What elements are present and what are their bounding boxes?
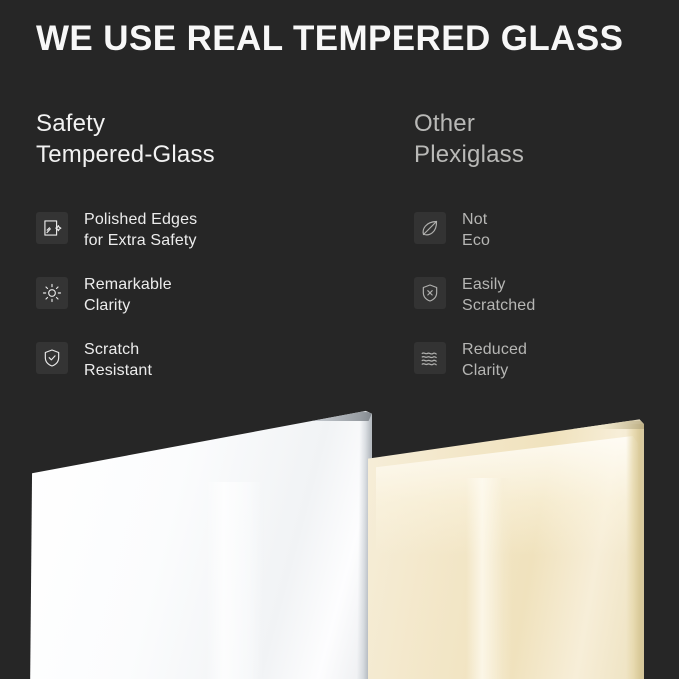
feature-label-line2: Clarity [462, 360, 527, 381]
feature-label: Polished Edges for Extra Safety [84, 208, 197, 251]
glass-reflection-highlight [206, 482, 264, 679]
feature-label-line1: Not [462, 209, 490, 230]
feature-item: Not Eco [414, 208, 674, 251]
feature-item: Polished Edges for Extra Safety [36, 208, 386, 251]
feature-list-tempered-glass: Polished Edges for Extra Safety Remarkab… [36, 208, 386, 381]
shield-check-icon [36, 342, 68, 374]
comparison-infographic: WE USE REAL TEMPERED GLASS Safety Temper… [0, 0, 679, 679]
feature-label: Remarkable Clarity [84, 273, 172, 316]
feature-label: Not Eco [462, 208, 490, 251]
plexiglass-right-edge [626, 424, 644, 679]
feature-label-line2: Clarity [84, 295, 172, 316]
plexiglass-top-edge [368, 420, 644, 429]
feature-item: Reduced Clarity [414, 338, 674, 381]
feature-label-line1: Remarkable [84, 274, 172, 295]
feature-label-line1: Polished Edges [84, 209, 197, 230]
column-plexiglass: Other Plexiglass Not Eco [414, 108, 674, 403]
column-title-plexiglass: Other Plexiglass [414, 108, 674, 170]
feature-label-line1: Easily [462, 274, 535, 295]
column-title-line1: Safety [36, 108, 386, 139]
feature-item: Easily Scratched [414, 273, 674, 316]
polished-edges-icon [36, 212, 68, 244]
plexiglass-reflection-highlight [466, 478, 512, 679]
column-tempered-glass: Safety Tempered-Glass Polished Edges for… [36, 108, 386, 403]
column-title-line2: Tempered-Glass [36, 139, 386, 170]
column-title-line2: Plexiglass [414, 139, 674, 170]
brightness-sun-icon [36, 277, 68, 309]
feature-label: Scratch Resistant [84, 338, 152, 381]
feature-label-line2: Scratched [462, 295, 535, 316]
tempered-glass-panel [30, 408, 372, 679]
feature-label: Reduced Clarity [462, 338, 527, 381]
feature-label-line2: for Extra Safety [84, 230, 197, 251]
leaf-crossed-out-icon [414, 212, 446, 244]
feature-list-plexiglass: Not Eco Easily Scratched [414, 208, 674, 381]
feature-label-line2: Resistant [84, 360, 152, 381]
shield-x-icon [414, 277, 446, 309]
feature-label: Easily Scratched [462, 273, 535, 316]
feature-label-line2: Eco [462, 230, 490, 251]
glass-top-edge [32, 411, 372, 421]
feature-item: Remarkable Clarity [36, 273, 386, 316]
feature-label-line1: Scratch [84, 339, 152, 360]
column-title-tempered-glass: Safety Tempered-Glass [36, 108, 386, 170]
column-title-line1: Other [414, 108, 674, 139]
feature-item: Scratch Resistant [36, 338, 386, 381]
plexiglass-panel [368, 418, 644, 679]
page-title: WE USE REAL TEMPERED GLASS [36, 18, 656, 60]
feature-label-line1: Reduced [462, 339, 527, 360]
wavy-lines-icon [414, 342, 446, 374]
product-photo [0, 396, 679, 679]
